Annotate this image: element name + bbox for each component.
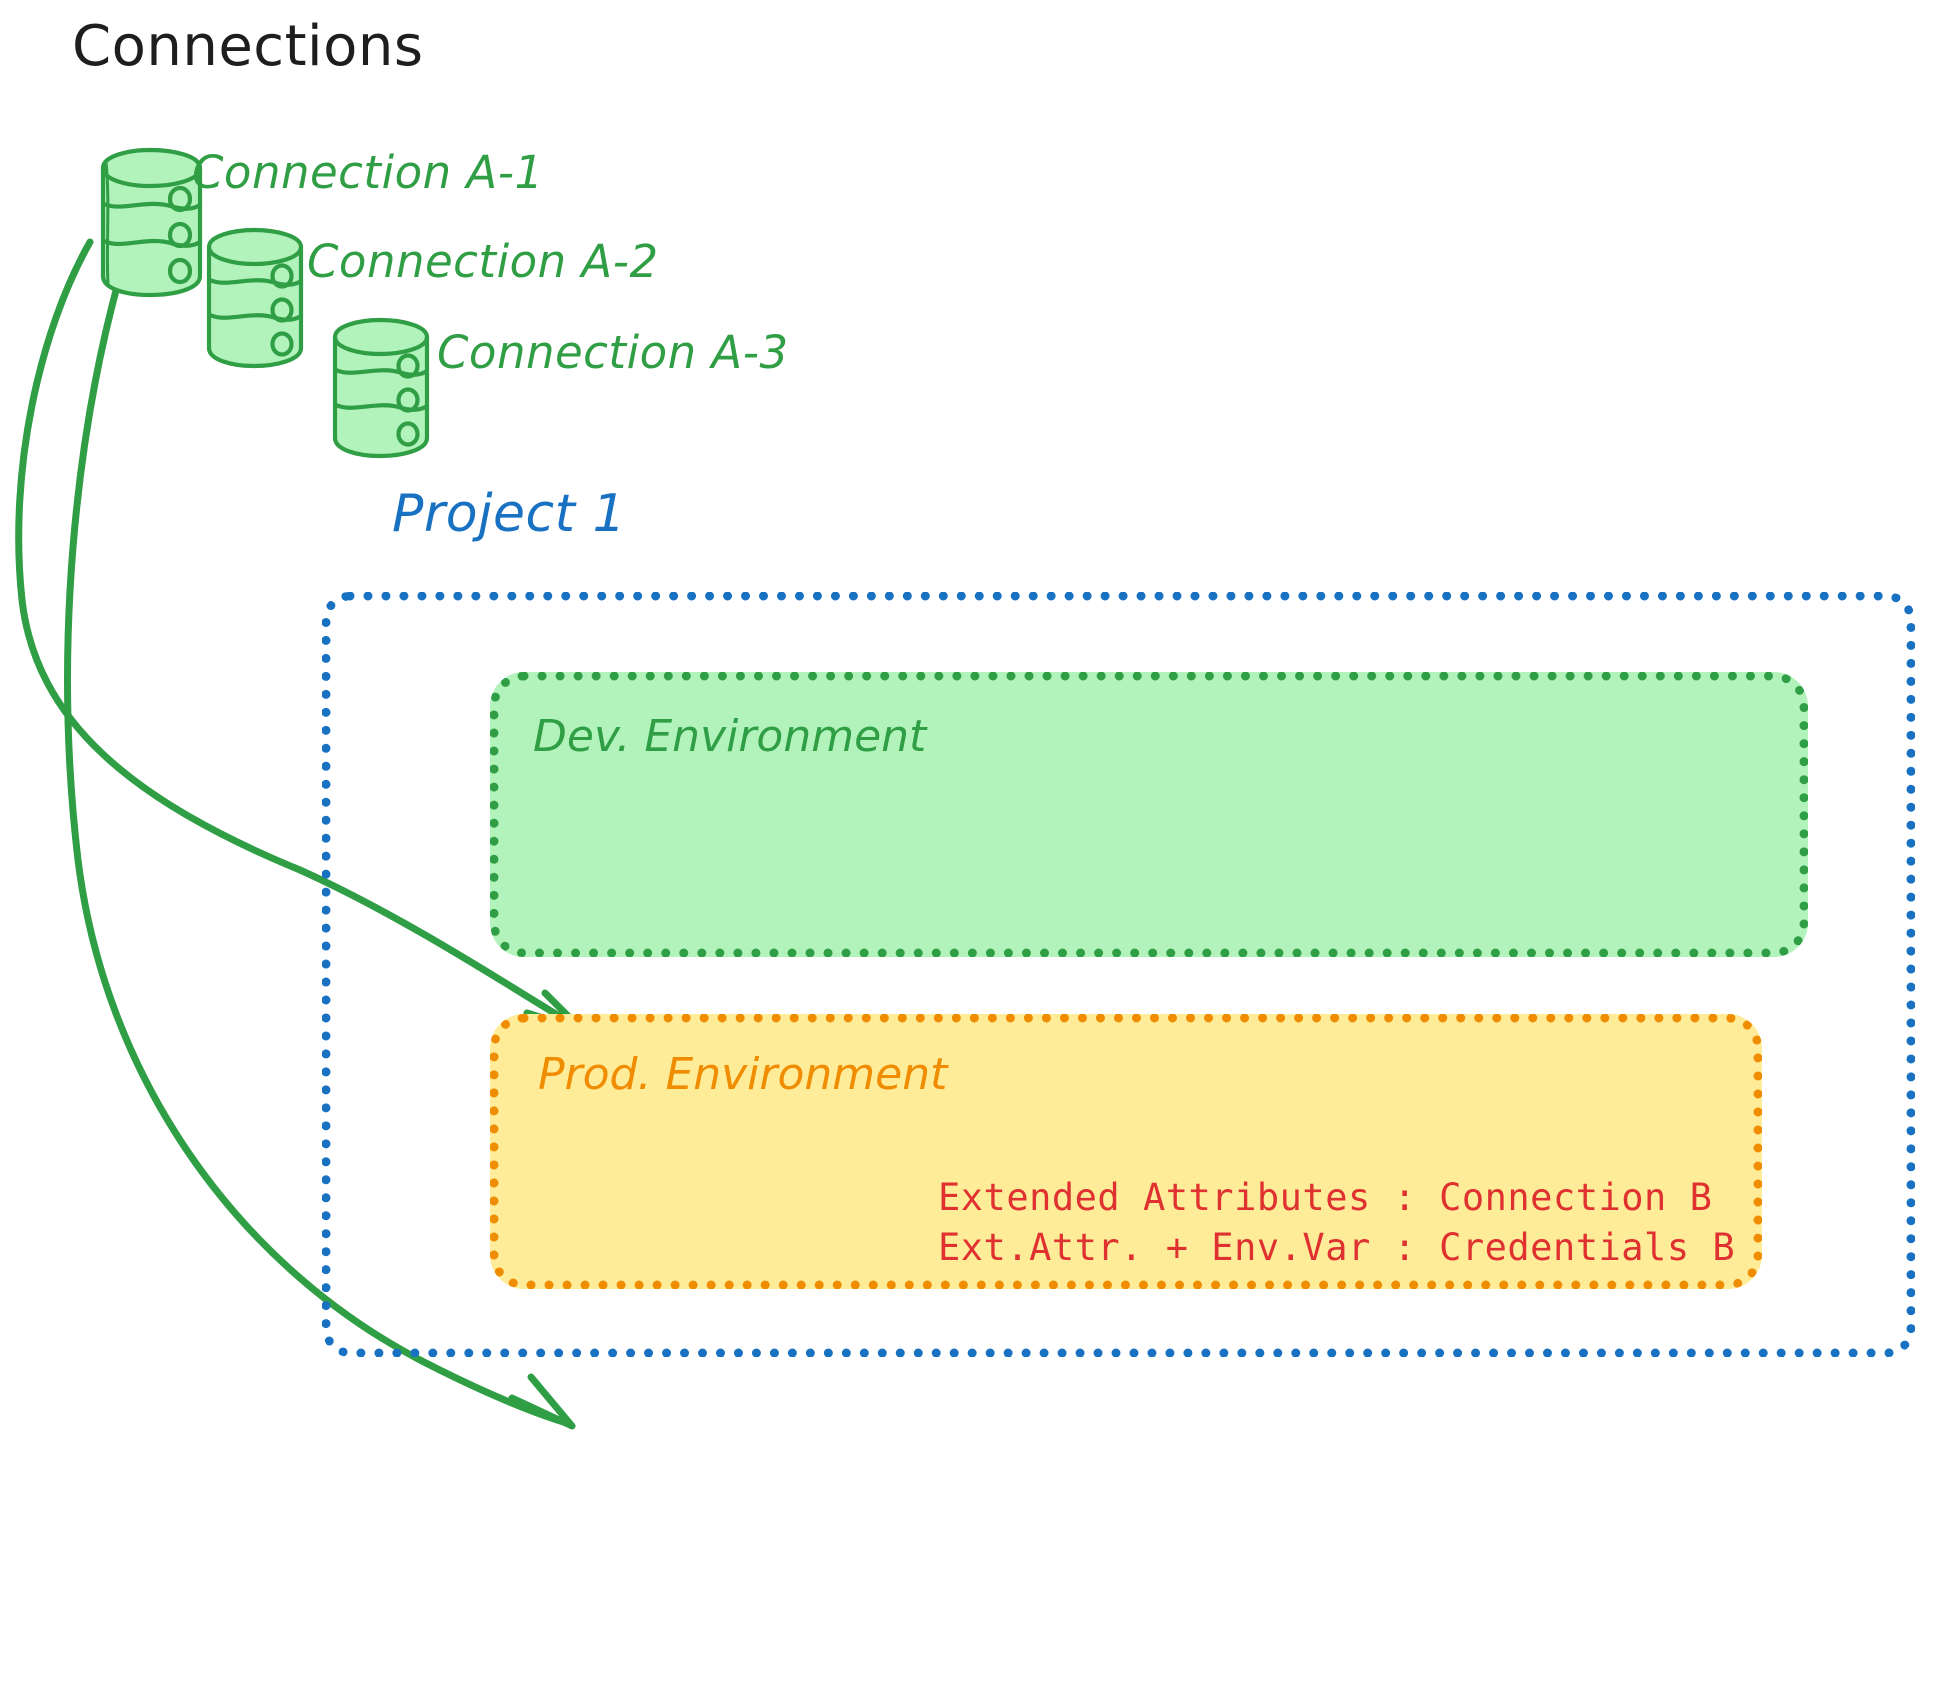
prod-extended-attributes-line: Extended Attributes : Connection B xyxy=(938,1176,1712,1219)
database-icon xyxy=(322,310,452,465)
prod-environment-title: Prod. Environment xyxy=(538,1049,947,1100)
connection-label-a1: Connection A-1 xyxy=(192,146,544,199)
diagram-canvas: Connections Connection A-1 Connection A-… xyxy=(0,0,1938,1691)
connection-label-a2: Connection A-2 xyxy=(307,235,659,288)
connection-label-a3: Connection A-3 xyxy=(437,326,789,379)
prod-env-var-line: Ext.Attr. + Env.Var : Credentials B xyxy=(938,1226,1735,1269)
page-title: Connections xyxy=(72,14,424,79)
project-title: Project 1 xyxy=(392,484,626,544)
dev-environment-title: Dev. Environment xyxy=(533,711,926,762)
